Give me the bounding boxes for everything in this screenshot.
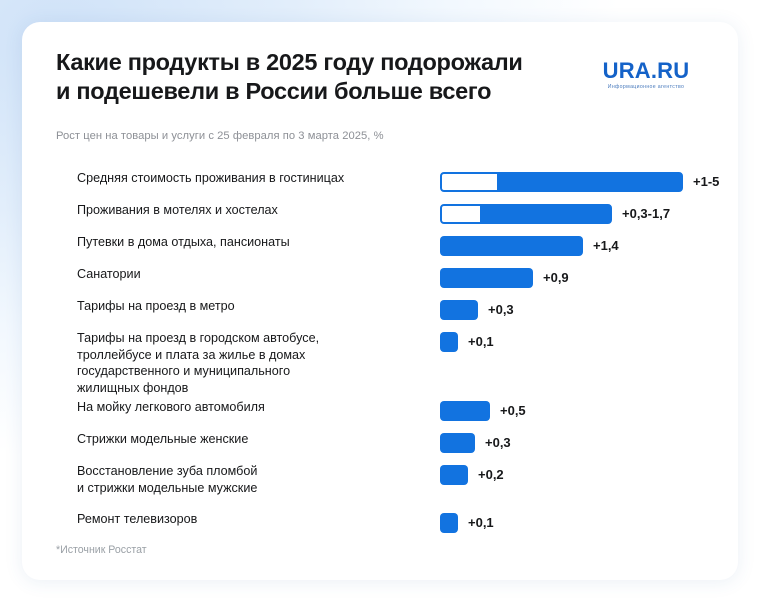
value-bar xyxy=(440,433,475,453)
bar-value-label: +1,4 xyxy=(593,237,619,255)
row-label-line: троллейбусе и плата за жилье в домах xyxy=(77,347,437,364)
infographic-card: Какие продукты в 2025 году подорожали и … xyxy=(22,22,738,580)
bar-value-label: +0,3-1,7 xyxy=(622,205,670,223)
row-label: Проживания в мотелях и хостелах xyxy=(77,202,437,219)
bar-value-label: +0,9 xyxy=(543,269,569,287)
row-label: Санатории xyxy=(77,266,437,283)
ura-ru-logo[interactable]: URA.RU Информационное агентство xyxy=(590,60,702,90)
row-label-line: Санатории xyxy=(77,266,437,283)
row-label-line: Средняя стоимость проживания в гостиница… xyxy=(77,170,437,187)
bar-value-label: +0,5 xyxy=(500,402,526,420)
logo-subtitle: Информационное агентство xyxy=(590,84,702,90)
row-label-line: Проживания в мотелях и хостелах xyxy=(77,202,437,219)
row-label: На мойку легкового автомобиля xyxy=(77,399,437,416)
bar-container: +0,3 xyxy=(440,300,478,320)
row-label: Путевки в дома отдыха, пансионаты xyxy=(77,234,437,251)
row-label-line: На мойку легкового автомобиля xyxy=(77,399,437,416)
bar-container: +1,4 xyxy=(440,236,583,256)
title-line-2: и подешевели в России больше всего xyxy=(56,77,616,106)
header: Какие продукты в 2025 году подорожали и … xyxy=(56,48,706,124)
row-label-line: и стрижки модельные мужские xyxy=(77,480,437,497)
bar-value-label: +0,2 xyxy=(478,466,504,484)
row-label-line: Восстановление зуба пломбой xyxy=(77,463,437,480)
infographic-canvas: Какие продукты в 2025 году подорожали и … xyxy=(0,0,760,605)
bar-value-label: +0,1 xyxy=(468,333,494,351)
range-bar xyxy=(440,172,683,192)
row-label: Тарифы на проезд в метро xyxy=(77,298,437,315)
row-label-line: государственного и муниципального xyxy=(77,363,437,380)
row-label-line: Тарифы на проезд в городском автобусе, xyxy=(77,330,437,347)
value-bar xyxy=(440,268,533,288)
row-label: Тарифы на проезд в городском автобусе,тр… xyxy=(77,330,437,396)
chart-subtitle: Рост цен на товары и услуги с 25 февраля… xyxy=(56,130,706,142)
bar-container: +1-5 xyxy=(440,172,683,192)
bar-value-label: +0,1 xyxy=(468,514,494,532)
range-bar xyxy=(440,204,612,224)
bar-container: +0,1 xyxy=(440,332,458,352)
value-bar xyxy=(440,513,458,533)
chart-row: Тарифы на проезд в городском автобусе,тр… xyxy=(56,330,706,356)
chart-row: Ремонт телевизоров+0,1 xyxy=(56,511,706,537)
value-bar xyxy=(440,401,490,421)
bar-container: +0,9 xyxy=(440,268,533,288)
chart-row: На мойку легкового автомобиля+0,5 xyxy=(56,399,706,425)
bar-value-label: +1-5 xyxy=(693,173,719,191)
title-line-1: Какие продукты в 2025 году подорожали xyxy=(56,48,616,77)
row-label-line: Тарифы на проезд в метро xyxy=(77,298,437,315)
bar-range-offset xyxy=(442,206,480,222)
row-label: Средняя стоимость проживания в гостиница… xyxy=(77,170,437,187)
bar-container: +0,1 xyxy=(440,513,458,533)
chart-row: Средняя стоимость проживания в гостиница… xyxy=(56,170,706,196)
bar-chart: Средняя стоимость проживания в гостиница… xyxy=(56,160,706,520)
row-label: Восстановление зуба пломбойи стрижки мод… xyxy=(77,463,437,496)
bar-range-offset xyxy=(442,174,497,190)
bar-value-label: +0,3 xyxy=(485,434,511,452)
row-label-line: Ремонт телевизоров xyxy=(77,511,437,528)
value-bar xyxy=(440,236,583,256)
logo-wordmark: URA.RU xyxy=(590,60,702,82)
row-label: Ремонт телевизоров xyxy=(77,511,437,528)
row-label: Стрижки модельные женские xyxy=(77,431,437,448)
row-label-line: Стрижки модельные женские xyxy=(77,431,437,448)
row-label-line: Путевки в дома отдыха, пансионаты xyxy=(77,234,437,251)
value-bar xyxy=(440,300,478,320)
chart-row: Тарифы на проезд в метро+0,3 xyxy=(56,298,706,324)
chart-row: Санатории+0,9 xyxy=(56,266,706,292)
chart-row: Восстановление зуба пломбойи стрижки мод… xyxy=(56,463,706,489)
value-bar xyxy=(440,465,468,485)
source-note: *Источник Росстат xyxy=(56,544,147,556)
bar-container: +0,3-1,7 xyxy=(440,204,612,224)
bar-container: +0,3 xyxy=(440,433,475,453)
page-title: Какие продукты в 2025 году подорожали и … xyxy=(56,48,616,106)
bar-container: +0,5 xyxy=(440,401,490,421)
bar-value-label: +0,3 xyxy=(488,301,514,319)
row-label-line: жилищных фондов xyxy=(77,380,437,397)
chart-row: Стрижки модельные женские+0,3 xyxy=(56,431,706,457)
bar-container: +0,2 xyxy=(440,465,468,485)
chart-row: Путевки в дома отдыха, пансионаты+1,4 xyxy=(56,234,706,260)
value-bar xyxy=(440,332,458,352)
chart-row: Проживания в мотелях и хостелах+0,3-1,7 xyxy=(56,202,706,228)
